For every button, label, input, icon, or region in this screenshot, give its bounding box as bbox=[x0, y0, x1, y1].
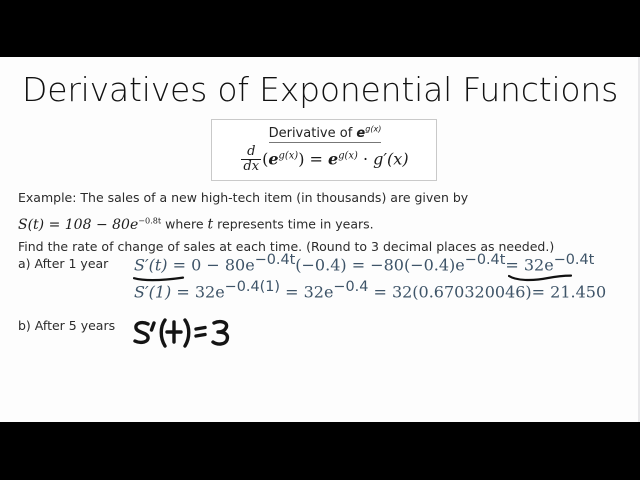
page-title: Derivatives of Exponential Functions bbox=[22, 70, 618, 109]
rule-base-1: e bbox=[268, 150, 278, 169]
work-line2-eq1: = 32e bbox=[171, 282, 224, 301]
problem-line-1: Example: The sales of a new high-tech it… bbox=[18, 187, 622, 209]
problem-where-b: represents time in years. bbox=[213, 217, 374, 232]
fraction-denominator: dx bbox=[241, 159, 261, 174]
work-line2-lhs: S′(1) bbox=[134, 282, 171, 301]
work-line1-exponent-3: −0.4t bbox=[554, 252, 595, 268]
work-line2-exponent-1: −0.4(1) bbox=[225, 279, 280, 295]
part-a-label: a) After 1 year bbox=[18, 256, 108, 271]
derivative-operator-fraction: d dx bbox=[241, 145, 261, 173]
problem-statement: Example: The sales of a new high-tech it… bbox=[18, 187, 622, 258]
video-frame: Derivatives of Exponential Functions Der… bbox=[0, 0, 640, 480]
rule-exponent-2: g(x) bbox=[338, 150, 358, 161]
fraction-numerator: d bbox=[241, 145, 261, 159]
work-line2-exponent-2: −0.4 bbox=[333, 279, 368, 295]
part-b-label: b) After 5 years bbox=[18, 318, 115, 333]
rule-close-paren: ) bbox=[298, 150, 304, 169]
rule-equals: = bbox=[310, 150, 323, 169]
rule-heading-base: e bbox=[356, 126, 365, 141]
problem-where-a: where bbox=[161, 217, 207, 232]
problem-line-2: S(t) = 108 − 80e−0.8t where t represents… bbox=[18, 209, 622, 236]
rule-heading-exponent: g(x) bbox=[365, 125, 381, 134]
problem-function-math: S(t) = 108 − 80e bbox=[18, 217, 138, 233]
work-line-evaluation: S′(1) = 32e−0.4(1) = 32e−0.4 = 32(0.6703… bbox=[134, 279, 606, 301]
ink-underline-sprime bbox=[133, 269, 185, 276]
rule-heading-prefix: Derivative of bbox=[269, 126, 357, 141]
problem-function-exponent: −0.8t bbox=[138, 215, 161, 225]
work-line1-exponent-2: −0.4t bbox=[465, 252, 506, 268]
work-line1-exponent-1: −0.4t bbox=[255, 252, 296, 268]
ink-underline-answer bbox=[508, 269, 572, 276]
work-line2-tail: = 32(0.670320046)= 21.450 bbox=[368, 282, 606, 301]
work-line2-mid: = 32e bbox=[280, 282, 333, 301]
handwritten-annotation bbox=[130, 315, 250, 355]
rule-dot-operator: · bbox=[363, 150, 368, 169]
letterbox-bar-top bbox=[0, 0, 640, 57]
rule-heading: Derivative of eg(x) bbox=[212, 125, 438, 141]
slide-canvas: Derivatives of Exponential Functions Der… bbox=[0, 57, 640, 422]
derivative-rule-box: Derivative of eg(x) d dx (eg(x)) = eg(x)… bbox=[211, 119, 437, 181]
rule-formula: d dx (eg(x)) = eg(x) · g′(x) bbox=[212, 146, 438, 174]
letterbox-bar-bottom bbox=[0, 422, 640, 480]
rule-exponent-1: g(x) bbox=[279, 150, 299, 161]
rule-gprime: g bbox=[373, 150, 383, 169]
work-line1-mid: (−0.4) = −80(−0.4)e bbox=[295, 255, 464, 274]
rule-gprime-argument: ′(x) bbox=[383, 150, 408, 169]
rule-base-2: e bbox=[328, 150, 338, 169]
